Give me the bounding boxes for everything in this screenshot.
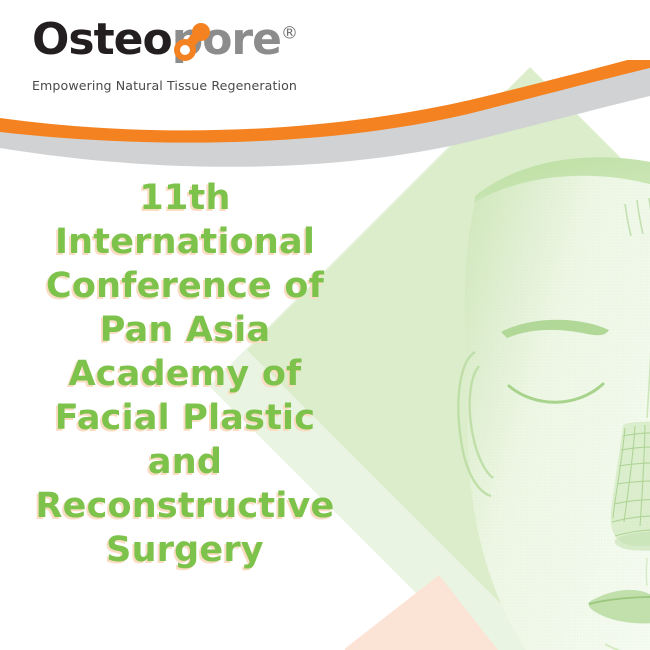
title-line: Surgery — [0, 528, 370, 572]
conference-title: 11th International Conference of Pan Asi… — [0, 176, 370, 572]
closed-eyes — [509, 380, 650, 402]
neck-region — [487, 522, 650, 650]
philtrum — [646, 558, 650, 586]
face-shape — [465, 176, 650, 650]
osteopore-molecule-dots-icon — [170, 22, 216, 68]
hair-strands — [625, 198, 650, 236]
peach-rotated-plate — [345, 575, 532, 650]
eyebrows — [501, 320, 650, 338]
title-line: and — [0, 440, 370, 484]
title-line: Reconstructive — [0, 484, 370, 528]
nasal-implant-mesh-scaffold — [611, 422, 650, 551]
registered-trademark-icon: ® — [281, 23, 298, 43]
title-line: International — [0, 220, 370, 264]
title-line: Academy of — [0, 352, 370, 396]
lips — [588, 589, 650, 624]
logo-text-osteo: Oste — [32, 14, 142, 65]
title-line: Conference of — [0, 264, 370, 308]
logo-wordmark: Osteopore® — [32, 18, 312, 68]
title-line: Facial Plastic — [0, 396, 370, 440]
hair-region — [471, 157, 650, 262]
title-line: Pan Asia — [0, 308, 370, 352]
logo-tagline: Empowering Natural Tissue Regeneration — [32, 78, 312, 93]
title-line: 11th — [0, 176, 370, 220]
osteopore-logo: Osteopore® Empowering Natural Tissue Reg… — [32, 18, 312, 93]
face-illustration — [355, 140, 650, 650]
ear — [458, 352, 493, 496]
conference-banner: Osteopore® Empowering Natural Tissue Reg… — [0, 0, 650, 650]
logo-text-o: o — [142, 14, 171, 65]
chin-shading — [605, 644, 650, 650]
